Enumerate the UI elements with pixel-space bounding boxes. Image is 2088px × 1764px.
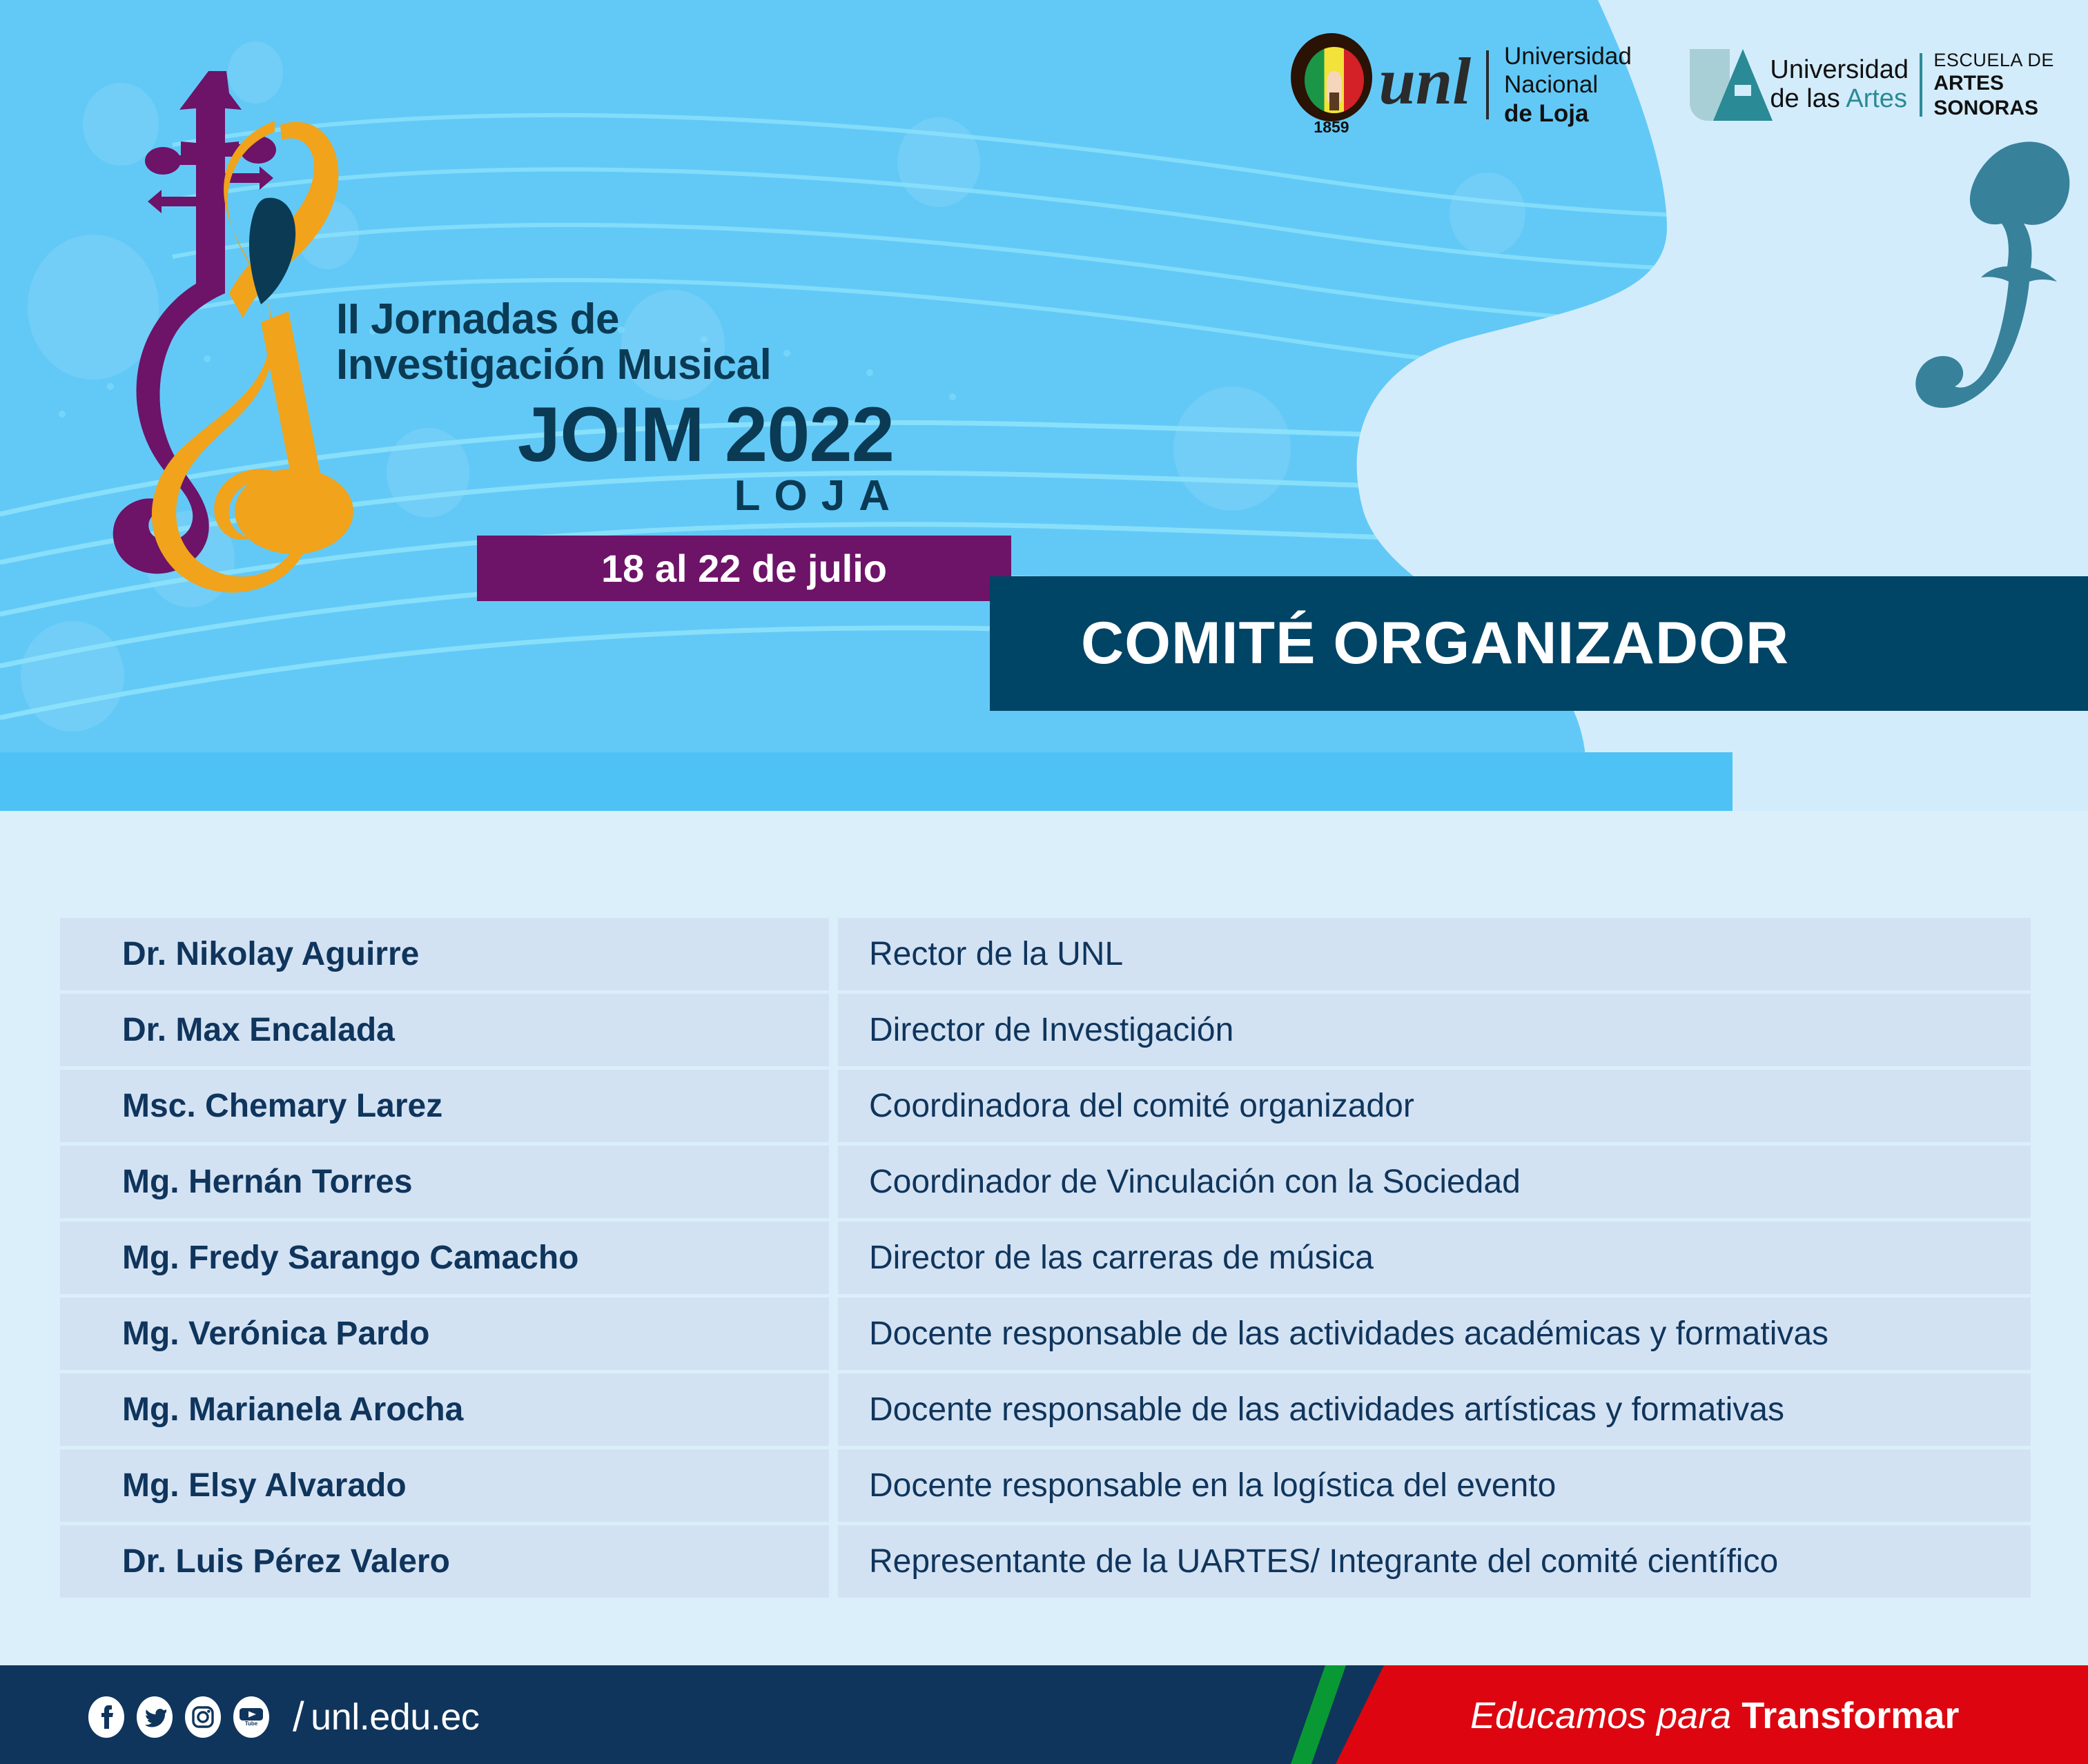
poster-canvas: II Jornadas de Investigación Musical JOI…	[0, 0, 2088, 1764]
cell-member-name: Msc. Chemary Larez	[60, 1070, 829, 1142]
cell-member-role: Representante de la UARTES/ Integrante d…	[838, 1525, 2031, 1598]
social-links[interactable]: Tube / unl.edu.ec	[88, 1693, 479, 1741]
cell-member-role: Docente responsable en la logística del …	[838, 1449, 2031, 1522]
uartes-name-line2-prefix: de las	[1770, 84, 1846, 113]
member-role-text: Coordinador de Vinculación con la Socied…	[869, 1163, 1521, 1201]
member-role-text: Director de Investigación	[869, 1011, 1233, 1049]
cell-member-name: Mg. Elsy Alvarado	[60, 1449, 829, 1522]
svg-text:Tube: Tube	[245, 1721, 258, 1726]
cell-member-role: Director de las carreras de música	[838, 1222, 2031, 1294]
unl-name-line2: Nacional	[1504, 70, 1632, 99]
event-subtitle-line2: Investigación Musical	[336, 342, 909, 388]
table-row: Mg. Fredy Sarango CamachoDirector de las…	[60, 1222, 2031, 1294]
member-role-text: Rector de la UNL	[869, 935, 1123, 973]
unl-seal-torch	[1329, 92, 1339, 110]
website-url: unl.edu.ec	[311, 1696, 479, 1738]
table-row: Mg. Marianela ArochaDocente responsable …	[60, 1373, 2031, 1446]
cell-member-name: Dr. Nikolay Aguirre	[60, 918, 829, 990]
event-acronym: JOIM 2022	[336, 395, 909, 474]
unl-name-line1: Universidad	[1504, 42, 1632, 70]
committee-table: Dr. Nikolay AguirreRector de la UNLDr. M…	[60, 918, 2031, 1601]
cell-member-name: Mg. Fredy Sarango Camacho	[60, 1222, 829, 1294]
member-name-text: Msc. Chemary Larez	[122, 1087, 442, 1125]
unl-wordmark: unl Universidad Nacional de Loja	[1379, 42, 1632, 128]
cell-member-name: Mg. Verónica Pardo	[60, 1297, 829, 1370]
unl-name-line3: de Loja	[1504, 100, 1589, 127]
member-role-text: Coordinadora del comité organizador	[869, 1087, 1414, 1125]
poster-header: II Jornadas de Investigación Musical JOI…	[0, 0, 2088, 811]
poster-footer: Tube / unl.edu.ec Educamos para Transfor…	[0, 1665, 2088, 1764]
member-role-text: Docente responsable en la logística del …	[869, 1467, 1556, 1505]
member-name-text: Mg. Marianela Arocha	[122, 1391, 463, 1429]
cell-member-name: Dr. Max Encalada	[60, 994, 829, 1066]
member-name-text: Mg. Fredy Sarango Camacho	[122, 1239, 578, 1277]
uartes-school: ESCUELA DE ARTES SONORAS	[1933, 49, 2088, 121]
divider	[1920, 53, 1922, 117]
instagram-icon[interactable]	[185, 1696, 221, 1738]
uartes-school-line2: ARTES SONORAS	[1933, 72, 2038, 119]
uartes-letter-a	[1713, 49, 1773, 121]
website-link[interactable]: / unl.edu.ec	[293, 1693, 479, 1741]
cell-member-name: Mg. Marianela Arocha	[60, 1373, 829, 1446]
uartes-school-line1: ESCUELA DE	[1933, 49, 2088, 71]
cell-member-role: Coordinadora del comité organizador	[838, 1070, 2031, 1142]
institution-logos: 1859 unl Universidad Nacional de Loja Un…	[1291, 33, 2088, 137]
table-row: Mg. Verónica PardoDocente responsable de…	[60, 1297, 2031, 1370]
table-row: Msc. Chemary LarezCoordinadora del comit…	[60, 1070, 2031, 1142]
event-city: LOJA	[336, 471, 909, 520]
member-name-text: Mg. Hernán Torres	[122, 1163, 413, 1201]
member-name-text: Dr. Max Encalada	[122, 1011, 395, 1049]
twitter-icon[interactable]	[137, 1696, 173, 1738]
footer-tagline: Educamos para Transformar	[1470, 1694, 1959, 1737]
member-name-text: Dr. Luis Pérez Valero	[122, 1542, 450, 1580]
cell-member-name: Dr. Luis Pérez Valero	[60, 1525, 829, 1598]
cell-member-role: Docente responsable de las actividades a…	[838, 1373, 2031, 1446]
uartes-logo: Universidad de las Artes ESCUELA DE ARTE…	[1690, 45, 2088, 125]
unl-fullname: Universidad Nacional de Loja	[1504, 42, 1632, 128]
cell-member-role: Director de Investigación	[838, 994, 2031, 1066]
table-row: Mg. Elsy AlvaradoDocente responsable en …	[60, 1449, 2031, 1522]
member-role-text: Director de las carreras de música	[869, 1239, 1374, 1277]
unl-seal-year: 1859	[1291, 118, 1372, 137]
cell-member-role: Docente responsable de las actividades a…	[838, 1297, 2031, 1370]
member-role-text: Docente responsable de las actividades a…	[869, 1391, 1784, 1429]
footer-green-stripe	[1291, 1665, 1346, 1764]
member-role-text: Docente responsable de las actividades a…	[869, 1315, 1828, 1353]
event-title-block: II Jornadas de Investigación Musical JOI…	[336, 297, 909, 601]
cell-member-role: Coordinador de Vinculación con la Socied…	[838, 1146, 2031, 1218]
unl-seal-oval	[1291, 33, 1372, 121]
table-row: Dr. Max EncaladaDirector de Investigació…	[60, 994, 2031, 1066]
event-dates-badge: 18 al 22 de julio	[477, 536, 1011, 601]
slash-separator: /	[293, 1693, 304, 1741]
facebook-icon[interactable]	[88, 1696, 124, 1738]
table-row: Dr. Luis Pérez ValeroRepresentante de la…	[60, 1525, 2031, 1598]
unl-monogram: unl	[1379, 55, 1471, 115]
cell-member-role: Rector de la UNL	[838, 918, 2031, 990]
event-subtitle-line1: II Jornadas de	[336, 297, 909, 342]
unl-seal-icon: 1859	[1291, 33, 1365, 137]
tagline-bold: Transformar	[1741, 1695, 1959, 1736]
tagline-light: Educamos para	[1470, 1695, 1741, 1736]
youtube-icon[interactable]: Tube	[233, 1696, 269, 1738]
member-role-text: Representante de la UARTES/ Integrante d…	[869, 1542, 1778, 1580]
member-name-text: Mg. Verónica Pardo	[122, 1315, 429, 1353]
section-banner: COMITÉ ORGANIZADOR	[990, 576, 2088, 711]
section-banner-title: COMITÉ ORGANIZADOR	[1081, 609, 1789, 678]
divider	[1486, 50, 1489, 119]
table-row: Mg. Hernán TorresCoordinador de Vinculac…	[60, 1146, 2031, 1218]
unl-seal-shield	[1305, 47, 1364, 113]
table-row: Dr. Nikolay AguirreRector de la UNL	[60, 918, 2031, 990]
member-name-text: Dr. Nikolay Aguirre	[122, 935, 419, 973]
member-name-text: Mg. Elsy Alvarado	[122, 1467, 407, 1505]
uartes-monogram-icon	[1690, 45, 1761, 125]
cell-member-name: Mg. Hernán Torres	[60, 1146, 829, 1218]
f-hole-icon	[1912, 131, 2078, 421]
header-bottom-strip	[0, 752, 1733, 811]
uartes-name-line2-accent: Artes	[1846, 84, 1907, 113]
uartes-name-line1: Universidad	[1770, 56, 1909, 85]
uartes-name: Universidad de las Artes	[1770, 56, 1909, 114]
